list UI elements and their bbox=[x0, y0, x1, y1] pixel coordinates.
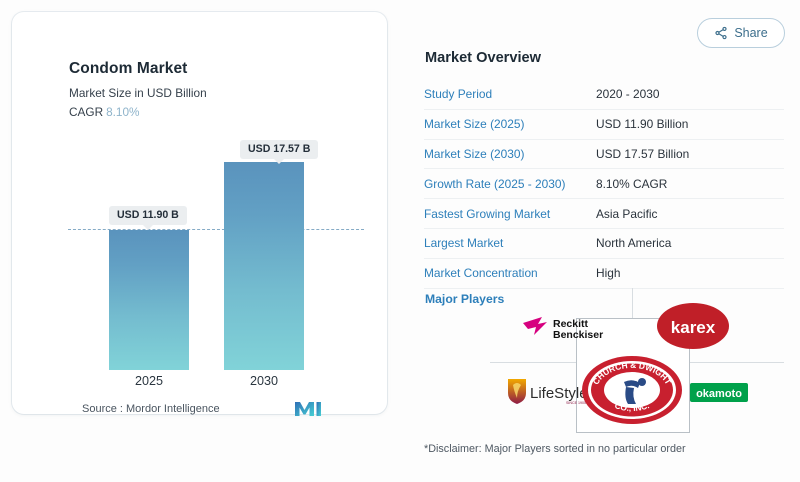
market-overview-title: Market Overview bbox=[425, 50, 784, 66]
reckitt-benckiser-logo: Reckitt Benckiser bbox=[520, 311, 620, 345]
svg-text:karex: karex bbox=[671, 318, 716, 337]
okamoto-logo: okamoto bbox=[690, 383, 748, 402]
x-axis-tick-2025: 2025 bbox=[109, 374, 189, 388]
karex-logo: karex bbox=[656, 301, 730, 351]
lifestyles-logo: LifeStyles SINCE 1905 bbox=[504, 376, 588, 406]
source-label: Source : Mordor Intelligence bbox=[82, 403, 220, 415]
share-button[interactable]: Share bbox=[697, 18, 785, 48]
table-row: Study Period 2020 - 2030 bbox=[424, 80, 784, 110]
chart-title: Condom Market bbox=[69, 60, 187, 78]
disclaimer-text: *Disclaimer: Major Players sorted in no … bbox=[424, 443, 686, 455]
bar-value-label-2030: USD 17.57 B bbox=[240, 140, 318, 159]
chart-cagr-label: CAGR bbox=[69, 105, 103, 119]
table-row: Market Size (2025) USD 11.90 Billion bbox=[424, 110, 784, 140]
x-axis-tick-2030: 2030 bbox=[224, 374, 304, 388]
major-players-grid: Reckitt Benckiser karex LifeStyles bbox=[424, 288, 784, 433]
share-icon bbox=[714, 26, 728, 40]
table-row: Largest Market North America bbox=[424, 229, 784, 259]
share-button-label: Share bbox=[734, 26, 767, 40]
bar-chart-plot-area bbox=[69, 142, 359, 370]
row-value-market-size-2025: USD 11.90 Billion bbox=[596, 117, 688, 131]
row-value-market-size-2030: USD 17.57 Billion bbox=[596, 147, 689, 161]
market-overview-panel: Market Overview Study Period 2020 - 2030… bbox=[424, 50, 784, 289]
bar-value-label-2025: USD 11.90 B bbox=[109, 206, 187, 225]
svg-text:okamoto: okamoto bbox=[696, 388, 742, 400]
church-and-dwight-logo: CHURCH & DWIGHT CO., INC. bbox=[580, 354, 684, 426]
row-value-study-period: 2020 - 2030 bbox=[596, 87, 659, 101]
row-label-market-size-2025: Market Size (2025) bbox=[424, 117, 596, 131]
table-row: Market Size (2030) USD 17.57 Billion bbox=[424, 140, 784, 170]
chart-subtitle: Market Size in USD Billion bbox=[69, 86, 207, 100]
row-label-fastest-growing-market: Fastest Growing Market bbox=[424, 207, 596, 221]
row-value-market-concentration: High bbox=[596, 266, 620, 280]
row-value-growth-rate: 8.10% CAGR bbox=[596, 177, 667, 191]
row-label-study-period: Study Period bbox=[424, 87, 596, 101]
svg-text:Benckiser: Benckiser bbox=[553, 329, 603, 341]
market-snapshot-page: Share Condom Market Market Size in USD B… bbox=[0, 0, 800, 482]
chart-card: Condom Market Market Size in USD Billion… bbox=[12, 12, 387, 414]
bar-2030 bbox=[224, 162, 304, 370]
row-label-market-concentration: Market Concentration bbox=[424, 266, 596, 280]
table-row: Fastest Growing Market Asia Pacific bbox=[424, 199, 784, 229]
table-row: Market Concentration High bbox=[424, 259, 784, 289]
row-label-growth-rate: Growth Rate (2025 - 2030) bbox=[424, 177, 596, 191]
chart-cagr: CAGR8.10% bbox=[69, 105, 140, 119]
row-label-largest-market: Largest Market bbox=[424, 236, 596, 250]
table-row: Growth Rate (2025 - 2030) 8.10% CAGR bbox=[424, 169, 784, 199]
mordor-intelligence-logo bbox=[294, 400, 324, 417]
chart-cagr-value: 8.10% bbox=[103, 105, 139, 119]
bar-2025 bbox=[109, 230, 189, 370]
row-label-market-size-2030: Market Size (2030) bbox=[424, 147, 596, 161]
row-value-largest-market: North America bbox=[596, 236, 671, 250]
row-value-fastest-growing-market: Asia Pacific bbox=[596, 207, 657, 221]
